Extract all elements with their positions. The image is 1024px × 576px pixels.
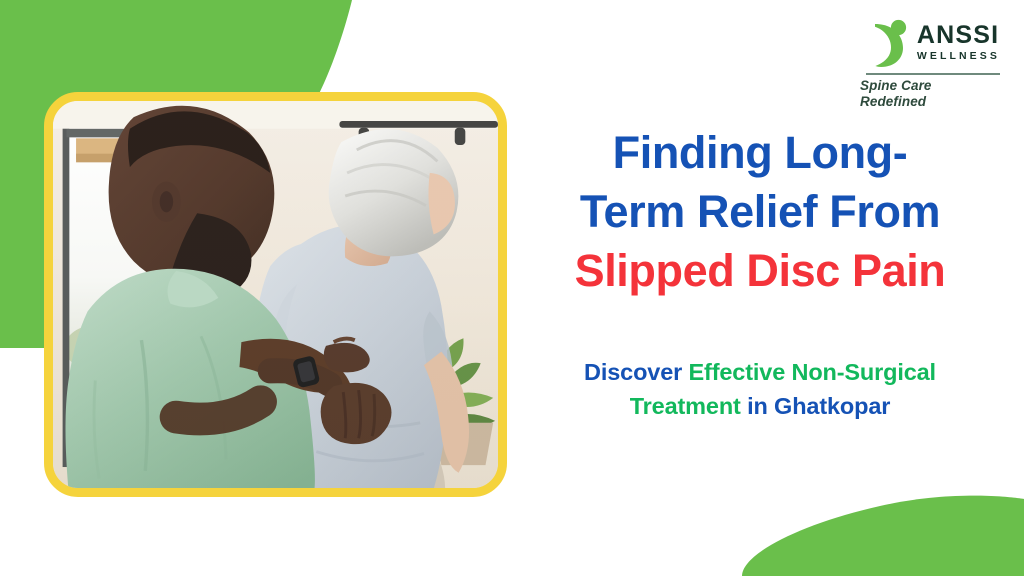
bottom-right-green-wave: [742, 496, 1024, 576]
page-subtitle: Discover Effective Non-Surgical Treatmen…: [521, 355, 999, 423]
brand-logo[interactable]: ANSSI WELLNESS Spine Care Redefined: [860, 18, 1000, 110]
hero-photo-card: [44, 92, 507, 497]
headline-line-3-accent: Slipped Disc Pain: [521, 242, 999, 301]
headline-line-2: Term Relief From: [521, 183, 999, 242]
anssi-person-arc-mark: [870, 18, 910, 68]
subheadline-line-1: Discover Effective Non-Surgical: [521, 355, 999, 389]
page-title: Finding Long- Term Relief From Slipped D…: [521, 124, 999, 301]
hero-photo: [53, 101, 498, 488]
subheadline-line-1-green: Effective Non-Surgical: [689, 359, 936, 385]
logo-subtitle: WELLNESS: [917, 50, 1000, 63]
subheadline-line-2-green: Treatment: [630, 393, 741, 419]
headline-line-1: Finding Long-: [521, 124, 999, 183]
subheadline-line-2: Treatment in Ghatkopar: [521, 389, 999, 423]
text-content: Finding Long- Term Relief From Slipped D…: [521, 124, 999, 423]
logo-tagline: Spine Care Redefined: [860, 78, 1000, 110]
marketing-banner: ANSSI WELLNESS Spine Care Redefined Find…: [0, 0, 1024, 576]
subheadline-line-1-blue: Discover: [584, 359, 688, 385]
subheadline-line-2-blue: in Ghatkopar: [741, 393, 891, 419]
logo-primary-row: ANSSI WELLNESS: [870, 18, 1000, 68]
logo-wordmark: ANSSI WELLNESS: [917, 23, 1000, 63]
logo-name: ANSSI: [917, 23, 999, 49]
logo-divider: [866, 73, 1000, 75]
